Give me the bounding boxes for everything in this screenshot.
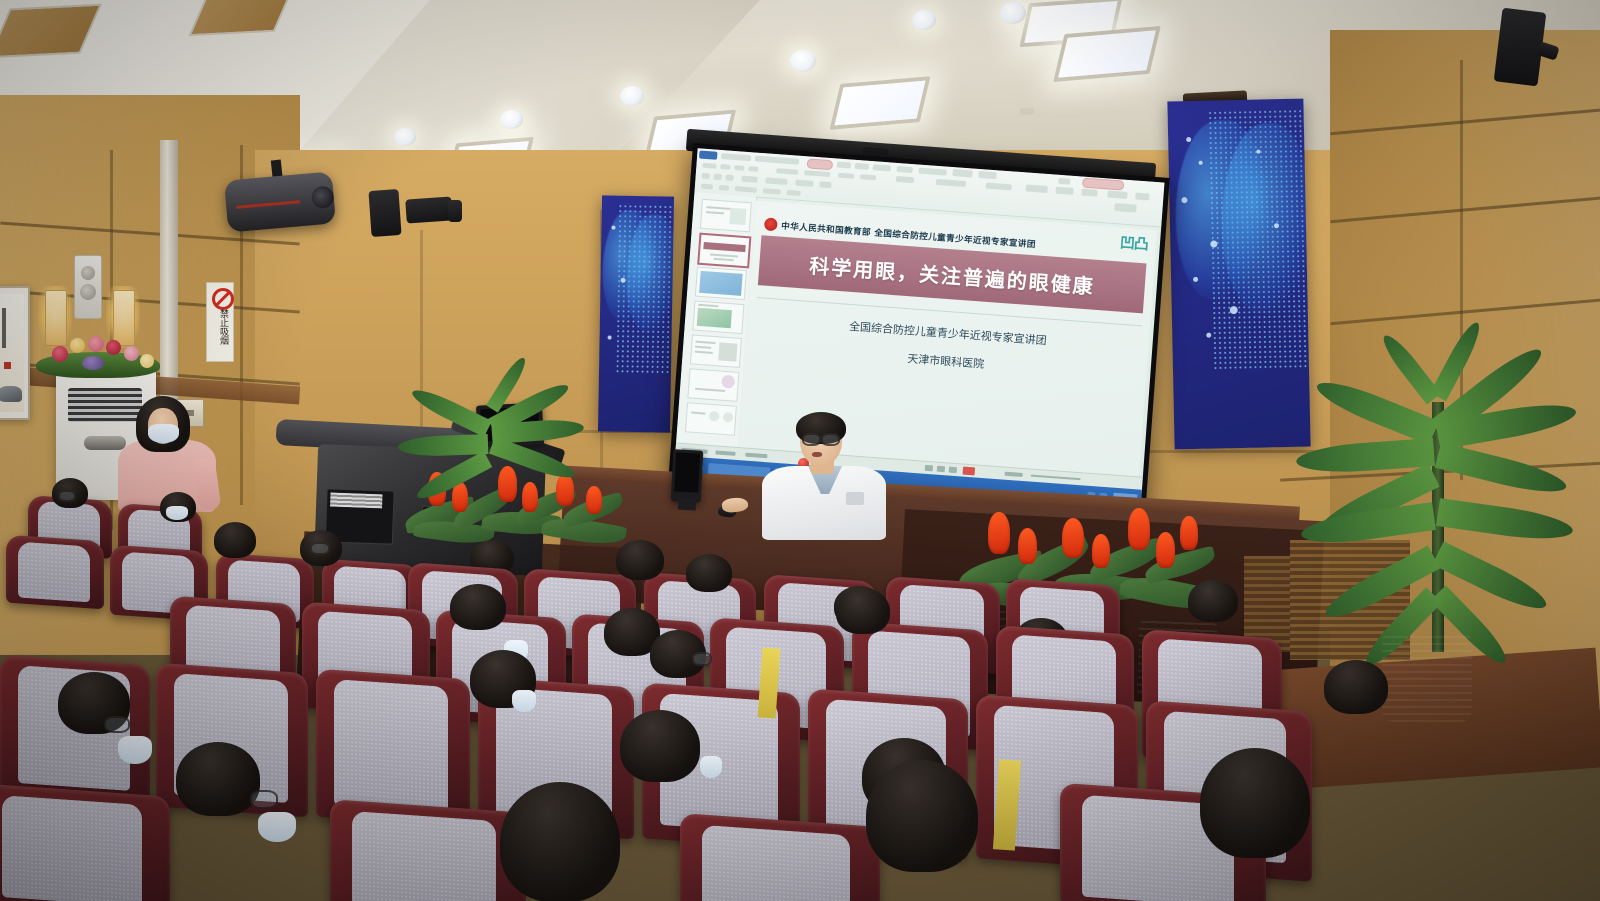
ribbon-command[interactable] [720, 164, 730, 170]
flower-bloom [106, 340, 121, 355]
thumbnail-title-band [703, 242, 745, 252]
ribbon-tab-label[interactable] [978, 171, 996, 179]
ceiling-downlight [912, 10, 936, 30]
desk-monitor-stand [678, 498, 697, 511]
ribbon-command[interactable] [725, 174, 733, 181]
slide-title: 科学用眼，关注普遍的眼健康 [808, 249, 1095, 299]
ceiling-downlight [1000, 2, 1026, 24]
zoom-level[interactable] [1005, 472, 1023, 477]
slide-thumbnail[interactable] [690, 334, 742, 368]
audience-head [866, 760, 978, 872]
view-reading-button[interactable] [949, 467, 957, 474]
ppt-start-tab[interactable] [807, 158, 834, 170]
ceiling-downlight [790, 50, 816, 72]
slide-thumbnail[interactable] [695, 267, 747, 301]
ribbon-tab-label[interactable] [721, 153, 751, 161]
ribbon-command[interactable] [819, 181, 831, 188]
ribbon-command[interactable] [763, 188, 781, 194]
wall-speaker [74, 255, 102, 319]
ceiling-panel-light [829, 76, 930, 129]
banner-particle [608, 336, 612, 340]
no-smoking-sign: 禁止吸烟 [206, 282, 234, 362]
hospital-logo-icon: 凹凸 [1119, 232, 1148, 255]
ribbon-command[interactable] [838, 173, 854, 179]
audience-eyeglasses [250, 790, 278, 809]
ceiling-projector [224, 171, 336, 232]
auditorium-seat[interactable] [6, 538, 104, 606]
artwork-stroke [2, 308, 6, 348]
banner-particle [1274, 223, 1279, 228]
ac-vent-grille [68, 388, 142, 422]
audience-face-mask [512, 690, 536, 712]
presenter-eyeglasses [821, 433, 840, 446]
flower-arrangement [36, 330, 160, 382]
no-smoking-slash [216, 291, 230, 305]
audience-head [176, 742, 260, 816]
areca-palm [1292, 292, 1592, 692]
ceiling-panel-light [1053, 26, 1161, 82]
framed-artwork [0, 286, 30, 420]
projector-lens [311, 185, 335, 209]
presenter-coat-pocket [846, 492, 864, 505]
banner-face-profile [1220, 122, 1311, 314]
auditorium-seat[interactable] [330, 806, 526, 901]
audience-head [450, 584, 506, 630]
ribbon-tab-label[interactable] [855, 163, 869, 170]
banner-particle [1181, 197, 1187, 203]
audience-eyeglasses [310, 542, 330, 555]
ribbon-command[interactable] [748, 166, 758, 172]
banner-particle [1206, 333, 1211, 338]
audience-face-mask [118, 736, 152, 764]
ribbon-command[interactable] [735, 186, 757, 193]
audience-head [500, 782, 620, 901]
audience-face-mask [166, 506, 188, 520]
ceiling-downlight [394, 128, 416, 146]
auditorium-seat[interactable] [0, 790, 170, 901]
ribbon-command[interactable] [1058, 178, 1070, 185]
projection-screen: 中华人民共和国教育部 全国综合防控儿童青少年近视专家宣讲团 凹凸 科学用眼，关注… [674, 148, 1165, 511]
flower-bloom [82, 356, 104, 370]
presenter-eyeglasses [802, 433, 821, 446]
speaker-cone [81, 266, 95, 280]
banner-particle [1256, 150, 1260, 154]
ribbon-command[interactable] [787, 190, 801, 196]
ribbon-tab-label[interactable] [952, 169, 972, 177]
no-smoking-label: 禁止吸烟 [214, 309, 228, 345]
ribbon-command[interactable] [1107, 190, 1127, 198]
palm-pot [1382, 636, 1472, 722]
ribbon-command[interactable] [1081, 189, 1097, 197]
ribbon-command[interactable] [986, 183, 1012, 191]
projection-screen-frame: 中华人民共和国教育部 全国综合防控儿童青少年近视专家宣讲团 凹凸 科学用眼，关注… [668, 143, 1170, 517]
auditorium-seat[interactable] [316, 674, 470, 822]
audience-face-mask [700, 756, 722, 778]
zoom-slider[interactable] [1031, 475, 1081, 481]
ribbon-command[interactable] [804, 170, 830, 177]
ribbon-tab-label[interactable] [897, 166, 913, 173]
ribbon-command[interactable] [701, 184, 713, 190]
ribbon-command[interactable] [776, 168, 798, 175]
ribbon-command[interactable] [741, 176, 757, 183]
ac-control-panel [84, 436, 126, 450]
slide-thumbnail[interactable] [685, 402, 737, 436]
flower-bloom [88, 336, 104, 352]
presenter-mouth [812, 452, 822, 457]
desk-monitor [671, 449, 704, 502]
slideshow-button[interactable] [963, 467, 976, 476]
ribbon-command[interactable] [860, 174, 876, 180]
banner-particle [611, 226, 615, 230]
ppt-app-tab[interactable] [699, 150, 718, 159]
banner-particle [1199, 161, 1203, 165]
slide-thumbnail[interactable] [687, 368, 739, 402]
slide-thumbnail-selected[interactable] [697, 233, 751, 269]
slide-thumbnail[interactable] [700, 199, 752, 233]
banner-particle [1193, 277, 1198, 282]
ribbon-command[interactable] [1055, 187, 1073, 195]
ribbon-command[interactable] [702, 163, 716, 169]
ribbon-command[interactable] [765, 177, 787, 185]
flower-bloom [70, 338, 85, 353]
auditorium-seat[interactable] [680, 820, 880, 901]
ribbon-tab-label[interactable] [755, 156, 799, 165]
wall-speaker [405, 196, 453, 223]
staff-face-mask [148, 424, 179, 443]
audience-head [686, 554, 732, 592]
ribbon-tab-label[interactable] [918, 168, 946, 176]
desk-monitor-screen [674, 452, 700, 492]
slide-thumbnail[interactable] [692, 300, 744, 334]
status-notes-toggle[interactable] [745, 453, 767, 459]
audience-head [214, 522, 256, 558]
audience-eyeglasses [692, 652, 712, 666]
ribbon-command[interactable] [795, 180, 813, 187]
view-normal-button[interactable] [925, 465, 933, 472]
ceiling-downlight [620, 86, 644, 106]
projector-stripe [236, 200, 300, 209]
view-sorter-button[interactable] [937, 466, 945, 473]
status-language [715, 450, 735, 455]
wall-speaker [448, 200, 462, 222]
banner-particle [1186, 137, 1191, 142]
audience-head [1188, 580, 1238, 622]
auditorium-scene: 禁止吸烟 [0, 0, 1600, 901]
ribbon-command[interactable] [1025, 184, 1047, 193]
no-smoking-icon [212, 288, 234, 310]
areca-palm [396, 384, 596, 524]
flower-bloom [140, 354, 154, 368]
audience-eyeglasses [58, 490, 76, 502]
national-emblem-icon [764, 217, 778, 231]
ribbon-command[interactable] [719, 185, 729, 191]
audience-head [1200, 748, 1310, 858]
audience-face-mask [258, 812, 296, 842]
audience-head [620, 710, 700, 782]
ceiling-ac-vent [1020, 108, 1034, 116]
audience-eyeglasses [104, 716, 130, 733]
ribbon-command[interactable] [896, 176, 914, 183]
artwork-stone [0, 386, 22, 402]
artwork-seal [4, 362, 11, 369]
audience-head [616, 540, 664, 580]
wall-speaker [368, 189, 401, 237]
ribbon-command[interactable] [734, 165, 744, 171]
digital-face-banner-right [1167, 99, 1310, 450]
ribbon-command[interactable] [701, 173, 709, 180]
speaker-cone [80, 284, 96, 300]
flower-bloom [124, 346, 139, 361]
audience-head [1324, 660, 1388, 714]
ribbon-tab-label[interactable] [873, 164, 891, 171]
ribbon-command[interactable] [713, 174, 721, 181]
ribbon-command[interactable] [936, 179, 966, 187]
banner-particle [621, 278, 626, 283]
digital-face-banner-left [598, 195, 674, 432]
ribbon-tab-label[interactable] [837, 162, 851, 169]
ceiling-downlight [500, 110, 523, 129]
audience-head [836, 588, 890, 634]
flower-bloom [52, 346, 68, 362]
ribbon-command[interactable] [1135, 192, 1149, 200]
lectern-amp-grille [330, 493, 382, 509]
ribbon-command[interactable] [1114, 203, 1137, 213]
